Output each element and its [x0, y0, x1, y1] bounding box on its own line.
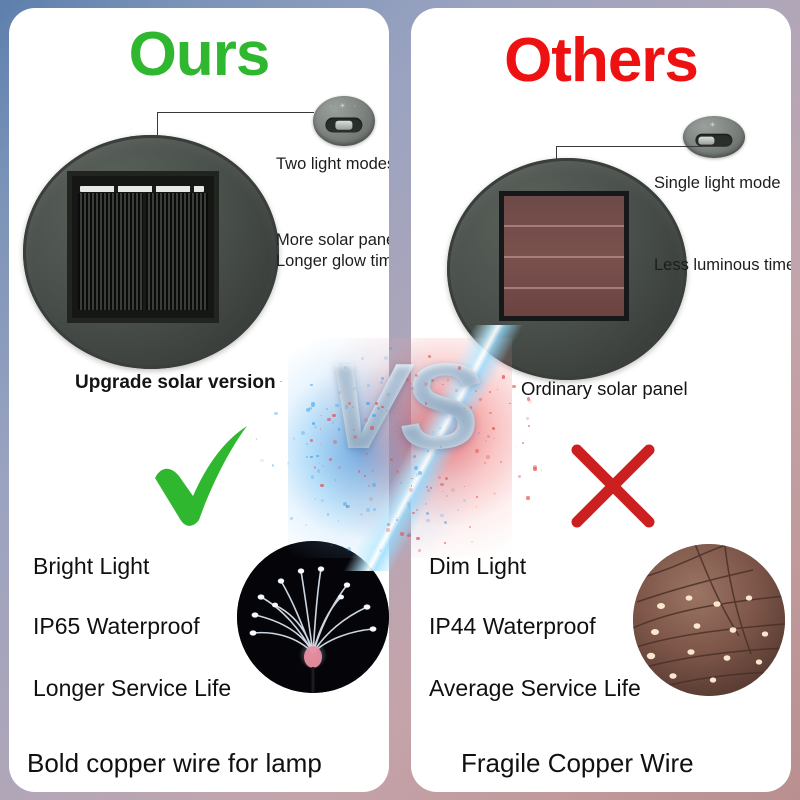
leader-line-horizontal-others — [556, 146, 703, 147]
callout-single-light-mode: Single light mode — [654, 173, 781, 194]
panel-others: Others ☀ Single light mode Less luminous… — [411, 8, 791, 792]
switch-slot — [695, 134, 732, 147]
feature-others-0: Dim Light — [429, 553, 526, 580]
panel-ours: Ours · ☀ · Two light modes More solar pa… — [9, 8, 389, 792]
product-photo-copper-wire — [633, 544, 785, 696]
comparison-infographic: Ours · ☀ · Two light modes More solar pa… — [0, 0, 800, 800]
switch-knob — [698, 136, 714, 144]
heading-others: Others — [411, 30, 791, 92]
solar-cell-ours — [67, 171, 219, 323]
callout-longer-glow-time: Longer glow time — [276, 251, 389, 272]
feature-ours-1: IP65 Waterproof — [33, 613, 200, 640]
solar-cell-divider — [143, 192, 146, 310]
switch-knob — [336, 120, 352, 130]
switch-slot — [325, 118, 362, 133]
callout-more-solar-panels: More solar panels — [276, 230, 389, 251]
switch-tick-marks: ☀ — [709, 122, 718, 129]
heading-ours: Ours — [9, 24, 389, 86]
callout-two-light-modes: Two light modes — [276, 154, 389, 175]
x-mark-icon — [563, 436, 663, 536]
feature-others-footer: Fragile Copper Wire — [461, 748, 694, 779]
solar-cell-busbar — [80, 186, 204, 192]
feature-ours-footer: Bold copper wire for lamp — [27, 748, 322, 779]
leader-line-horizontal-ours — [157, 112, 314, 113]
single-mode-switch-icon: ☀ — [683, 116, 745, 158]
caption-upgrade-solar-version: Upgrade solar version — [75, 372, 276, 394]
solar-disc-ours — [23, 135, 279, 369]
feature-others-1: IP44 Waterproof — [429, 613, 596, 640]
product-photo-fireworks — [237, 541, 389, 693]
solar-disc-others — [447, 158, 687, 380]
two-mode-switch-icon: · ☀ · — [313, 96, 375, 146]
solar-cell-row-lines — [504, 196, 624, 316]
callout-less-luminous-time: Less luminous time — [654, 255, 791, 276]
feature-others-2: Average Service Life — [429, 675, 641, 702]
caption-ordinary-solar-panel: Ordinary solar panel — [521, 378, 688, 400]
check-mark-icon — [141, 416, 261, 536]
feature-ours-2: Longer Service Life — [33, 675, 231, 702]
feature-ours-0: Bright Light — [33, 553, 149, 580]
solar-cell-others — [499, 191, 629, 321]
switch-tick-marks: · ☀ · — [329, 103, 359, 110]
